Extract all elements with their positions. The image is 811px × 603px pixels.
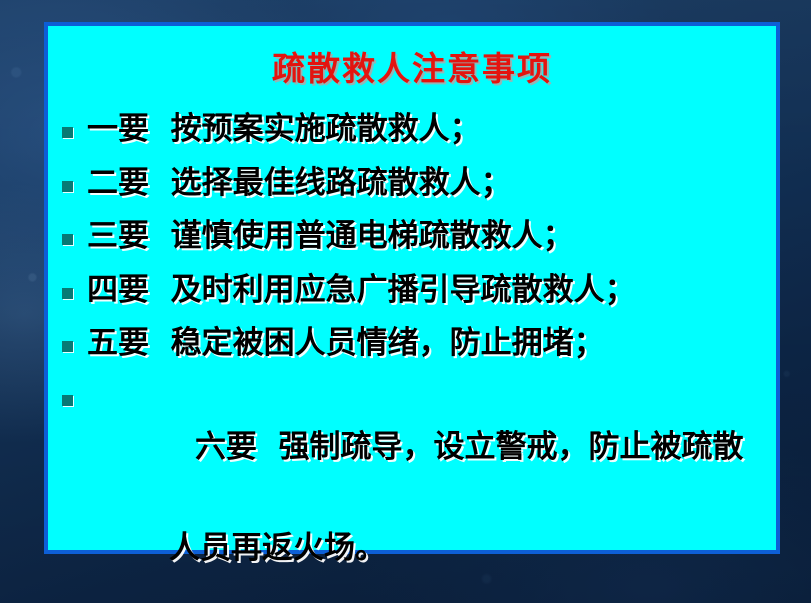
square-bullet-icon <box>62 395 73 406</box>
list-item-label: 四要 及时利用应急广播引导疏散救人； <box>87 265 776 316</box>
square-bullet-icon <box>62 234 73 245</box>
square-bullet-icon <box>62 127 73 138</box>
list-item-line-1: 六要 强制疏导，设立警戒，防止被疏散 <box>195 429 744 465</box>
list-item-label: 三要 谨慎使用普通电梯疏散救人； <box>87 211 776 262</box>
list-item-label: 二要 选择最佳线路疏散救人； <box>87 158 776 209</box>
square-bullet-icon <box>62 288 73 299</box>
list-item-label: 一要 按预案实施疏散救人； <box>87 104 776 155</box>
list-item: 六要 强制疏导，设立警戒，防止被疏散 人员再返火场。 <box>48 372 776 603</box>
list-item: 三要 谨慎使用普通电梯疏散救人； <box>48 211 776 262</box>
presentation-slide: 疏散救人注意事项 一要 按预案实施疏散救人； 二要 选择最佳线路疏散救人； 三要… <box>0 0 811 603</box>
list-item-line-2: 人员再返火场。 <box>87 523 776 574</box>
slide-title: 疏散救人注意事项 <box>48 26 776 90</box>
square-bullet-icon <box>62 181 73 192</box>
list-item: 四要 及时利用应急广播引导疏散救人； <box>48 265 776 316</box>
list-item-label: 六要 强制疏导，设立警戒，防止被疏散 人员再返火场。 <box>87 372 776 603</box>
square-bullet-icon <box>62 341 73 352</box>
list-item: 五要 稳定被困人员情绪，防止拥堵； <box>48 318 776 369</box>
slide-content-panel: 疏散救人注意事项 一要 按预案实施疏散救人； 二要 选择最佳线路疏散救人； 三要… <box>44 22 780 554</box>
bullet-list: 一要 按预案实施疏散救人； 二要 选择最佳线路疏散救人； 三要 谨慎使用普通电梯… <box>48 90 776 603</box>
list-item: 一要 按预案实施疏散救人； <box>48 104 776 155</box>
list-item: 二要 选择最佳线路疏散救人； <box>48 158 776 209</box>
list-item-label: 五要 稳定被困人员情绪，防止拥堵； <box>87 318 776 369</box>
